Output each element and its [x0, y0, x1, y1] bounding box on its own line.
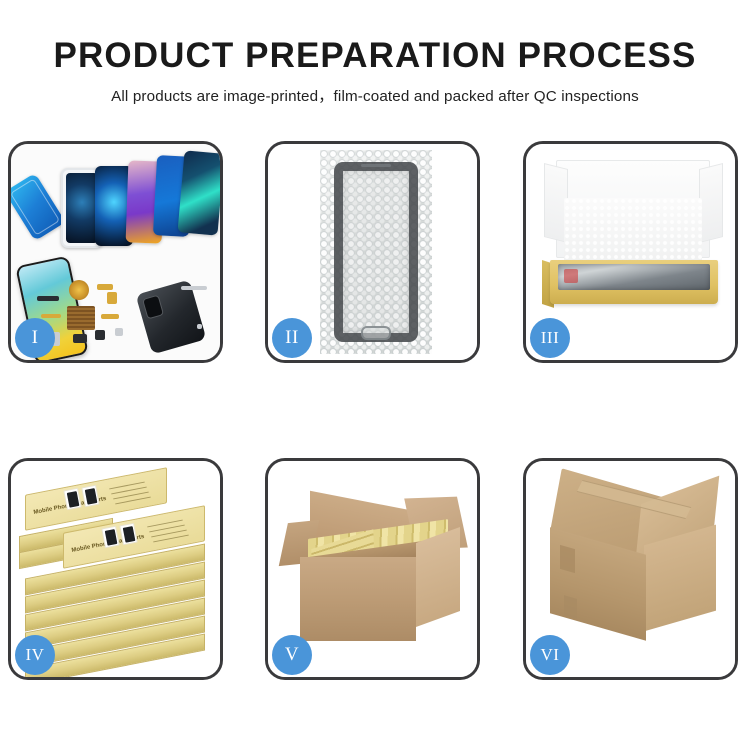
part-tweezers [181, 286, 207, 290]
sealed-shipping-carton [542, 485, 726, 653]
process-step-panel-1[interactable]: I [8, 141, 223, 363]
part-wireless-coil [69, 280, 89, 300]
part-ribbon-cable [41, 314, 61, 318]
carton-tape-patch-upper [560, 545, 575, 573]
process-step-panel-5[interactable]: V [265, 458, 480, 680]
adhesive-frame-blue [11, 173, 66, 241]
box-lid-flap-right [699, 163, 723, 243]
process-step-panel-2[interactable]: II [265, 141, 480, 363]
screen-digitizer [334, 162, 418, 342]
step-badge-2: II [272, 318, 312, 358]
step-badge-1: I [15, 318, 55, 358]
part-flex-cable-b [107, 292, 117, 304]
part-speaker-bar [37, 296, 59, 301]
bubble-wrap-sheet [320, 150, 432, 354]
open-shipping-carton [282, 487, 468, 651]
part-screw [115, 328, 123, 336]
foam-insert [564, 198, 702, 264]
carton-tape-patch-lower [564, 595, 577, 619]
part-flex-cable-a [97, 284, 113, 290]
process-step-panel-3[interactable]: III [523, 141, 738, 363]
step-badge-6: VI [530, 635, 570, 675]
part-connector [73, 334, 87, 343]
wrapped-screen-in-box [558, 264, 710, 290]
part-screw-tray [67, 306, 95, 330]
process-step-panel-6[interactable]: VI [523, 458, 738, 680]
process-panel-grid: I II III [0, 0, 750, 750]
open-kraft-box [542, 160, 725, 340]
kraft-box-stack: Mobile Phone Spare Parts Mobile Phone Sp… [17, 475, 217, 665]
part-flex-cable-c [101, 314, 119, 319]
part-button [95, 330, 105, 340]
step-badge-5: V [272, 635, 312, 675]
carton-side-panel [416, 527, 460, 627]
step-badge-4: IV [15, 635, 55, 675]
carton-front-panel [300, 557, 416, 641]
step-badge-3: III [530, 318, 570, 358]
process-step-panel-4[interactable]: Mobile Phone Spare Parts Mobile Phone Sp… [8, 458, 223, 680]
phone-screen-group [11, 144, 220, 264]
part-screw-small [197, 324, 202, 329]
phone-screen-teal-swirl [178, 150, 220, 235]
